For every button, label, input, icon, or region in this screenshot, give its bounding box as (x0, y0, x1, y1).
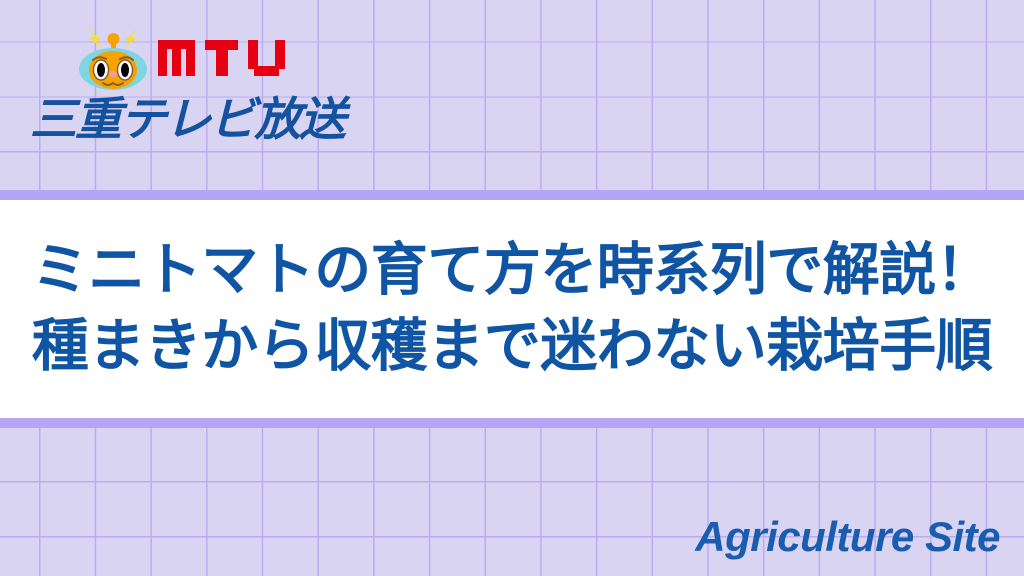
mtv-letter-t (203, 40, 241, 76)
title-line-2: 種まきから収穫まで迷わない栽培手順 (32, 309, 993, 385)
bee-mascot-icon (70, 26, 156, 92)
bee-mascot-svg (70, 26, 156, 92)
station-name-japanese: 三重テレビ放送 (30, 96, 344, 142)
lightning-antenna-left-icon (88, 28, 103, 49)
title-band: ミニトマトの育て方を時系列で解説！ 種まきから収穫まで迷わない栽培手順 (0, 190, 1024, 428)
mtv-wordmark (158, 40, 286, 76)
title-line-1: ミニトマトの育て方を時系列で解説！ (32, 233, 993, 309)
mtv-letter-m (158, 40, 196, 76)
site-name-label: Agriculture Site (695, 516, 1000, 558)
brand-logo-row (70, 26, 286, 92)
lightning-antenna-right-icon (123, 28, 138, 49)
thumbnail-canvas: 三重テレビ放送 ミニトマトの育て方を時系列で解説！ 種まきから収穫まで迷わない栽… (0, 0, 1024, 576)
brand-logo-block: 三重テレビ放送 (22, 18, 442, 158)
mtv-letter-v (248, 40, 286, 76)
